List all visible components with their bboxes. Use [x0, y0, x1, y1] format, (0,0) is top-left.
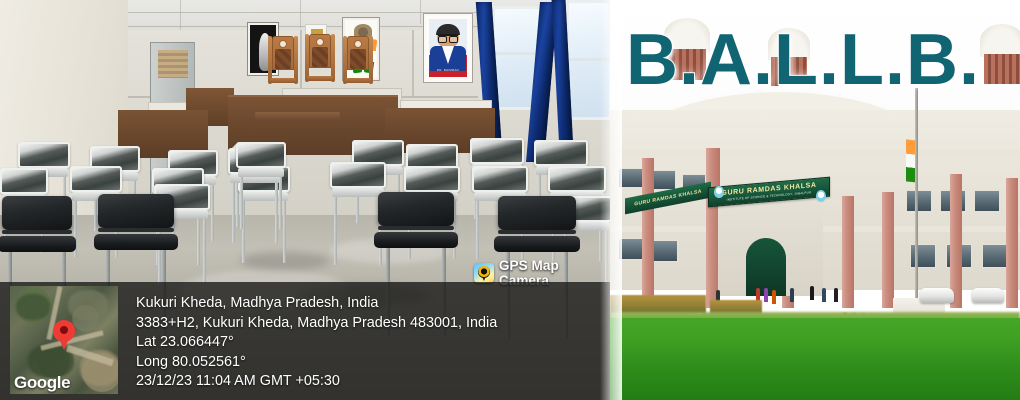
door-grill	[158, 50, 188, 78]
wall-seam	[300, 30, 302, 96]
chair-post	[369, 36, 373, 84]
pillar	[642, 158, 654, 308]
chair-leg	[232, 183, 235, 243]
chair-upholstery	[275, 49, 291, 69]
chair-back	[18, 142, 70, 168]
chair-back	[236, 142, 286, 168]
person	[810, 286, 814, 300]
chair-back	[470, 138, 524, 164]
chair-leg	[203, 219, 206, 285]
ceiling-seam	[180, 0, 181, 30]
bench-ledge	[255, 112, 340, 120]
window	[910, 244, 936, 268]
chair-seat	[94, 234, 178, 250]
window	[974, 190, 1000, 212]
chair-seat	[238, 168, 284, 177]
person	[764, 288, 768, 302]
chair-back	[0, 168, 48, 194]
chair-seat	[494, 236, 580, 252]
chair-back	[472, 166, 528, 192]
chair-arm	[270, 78, 296, 83]
banner-image: DR. BHIMRAO AMBEDKAR	[0, 0, 1020, 400]
gps-text-block: Kukuri Kheda, Madhya Pradesh, India 3383…	[136, 294, 497, 392]
chair-back	[70, 166, 122, 192]
chair-back	[98, 194, 174, 228]
window	[982, 244, 1008, 268]
chair-arm	[307, 76, 333, 81]
chair-upholstery	[312, 47, 328, 67]
chair-leg	[211, 185, 214, 241]
chair-seat	[332, 188, 384, 197]
person	[834, 288, 838, 302]
pillar	[1006, 178, 1018, 308]
chair-medallion	[279, 40, 287, 48]
chair-leg	[275, 183, 278, 243]
ambedkar-portrait: DR. BHIMRAO AMBEDKAR	[424, 14, 472, 82]
chair-medallion	[316, 38, 324, 46]
location-pin-icon	[53, 320, 75, 350]
khanda-logo-icon	[816, 190, 826, 202]
window-bar	[568, 58, 612, 61]
pillar	[842, 196, 854, 308]
window	[906, 190, 932, 212]
khanda-logo-icon	[714, 186, 724, 198]
facade-band	[610, 150, 1020, 158]
chair-leg	[334, 197, 337, 265]
ceiling-seam	[420, 0, 421, 24]
pillar	[882, 192, 894, 308]
chair-leg	[283, 201, 286, 263]
judge-chair	[305, 34, 335, 94]
window	[618, 238, 644, 260]
google-logo: Google	[14, 373, 70, 393]
chair-medallion	[354, 40, 362, 48]
portrait-caption: DR. BHIMRAO AMBEDKAR	[429, 64, 467, 76]
car	[920, 288, 954, 303]
lawn	[610, 318, 1020, 400]
chair-back	[2, 196, 72, 230]
wall-seam	[412, 30, 414, 96]
chair-back	[330, 162, 386, 188]
map-terrain	[68, 290, 108, 320]
gps-datetime: 23/12/23 11:04 AM GMT +05:30	[136, 372, 497, 392]
chair-leg	[476, 201, 479, 259]
judge-chair	[343, 36, 373, 96]
person	[772, 290, 776, 304]
map-terrain	[16, 294, 50, 320]
chair-seat	[0, 236, 76, 252]
ceiling-seam	[300, 0, 301, 28]
car	[972, 288, 1004, 303]
chair-back	[534, 140, 588, 166]
gps-latitude: Lat 23.066447°	[136, 333, 497, 353]
gps-address: 3383+H2, Kukuri Kheda, Madhya Pradesh 48…	[136, 314, 497, 334]
gps-place: Kukuri Kheda, Madhya Pradesh, India	[136, 294, 497, 314]
chair-back	[548, 166, 606, 192]
chair-leg	[240, 177, 243, 229]
gps-info-bar: Google Kukuri Kheda, Madhya Pradesh, Ind…	[0, 282, 612, 400]
person	[822, 288, 826, 302]
gps-longitude: Long 80.052561°	[136, 353, 497, 373]
chair-post	[331, 34, 335, 82]
chair-back	[404, 166, 460, 192]
map-thumbnail[interactable]: Google	[10, 286, 118, 394]
camera-location-icon	[474, 263, 494, 283]
course-title-overlay: B.A.L.L.B.	[626, 24, 1006, 96]
chair-arm	[345, 78, 371, 83]
person	[790, 288, 794, 302]
chair-upholstery	[350, 49, 366, 69]
chair-arm	[378, 226, 454, 230]
portrait-inner: DR. BHIMRAO AMBEDKAR	[429, 19, 467, 77]
chair-arm	[98, 228, 174, 232]
judge-chair	[268, 36, 298, 96]
chair-arm	[498, 230, 576, 234]
chair-leg	[279, 177, 282, 229]
moot-court-photo: DR. BHIMRAO AMBEDKAR	[0, 0, 612, 400]
chair-back	[498, 196, 576, 230]
chair-seat	[374, 232, 458, 248]
chair-back	[378, 192, 454, 226]
flagpole	[915, 88, 918, 303]
pillar	[950, 174, 962, 308]
chair-post	[294, 36, 298, 84]
window	[652, 240, 678, 262]
window	[618, 168, 644, 188]
glasses-icon	[438, 34, 458, 39]
chair-arm	[2, 230, 72, 234]
